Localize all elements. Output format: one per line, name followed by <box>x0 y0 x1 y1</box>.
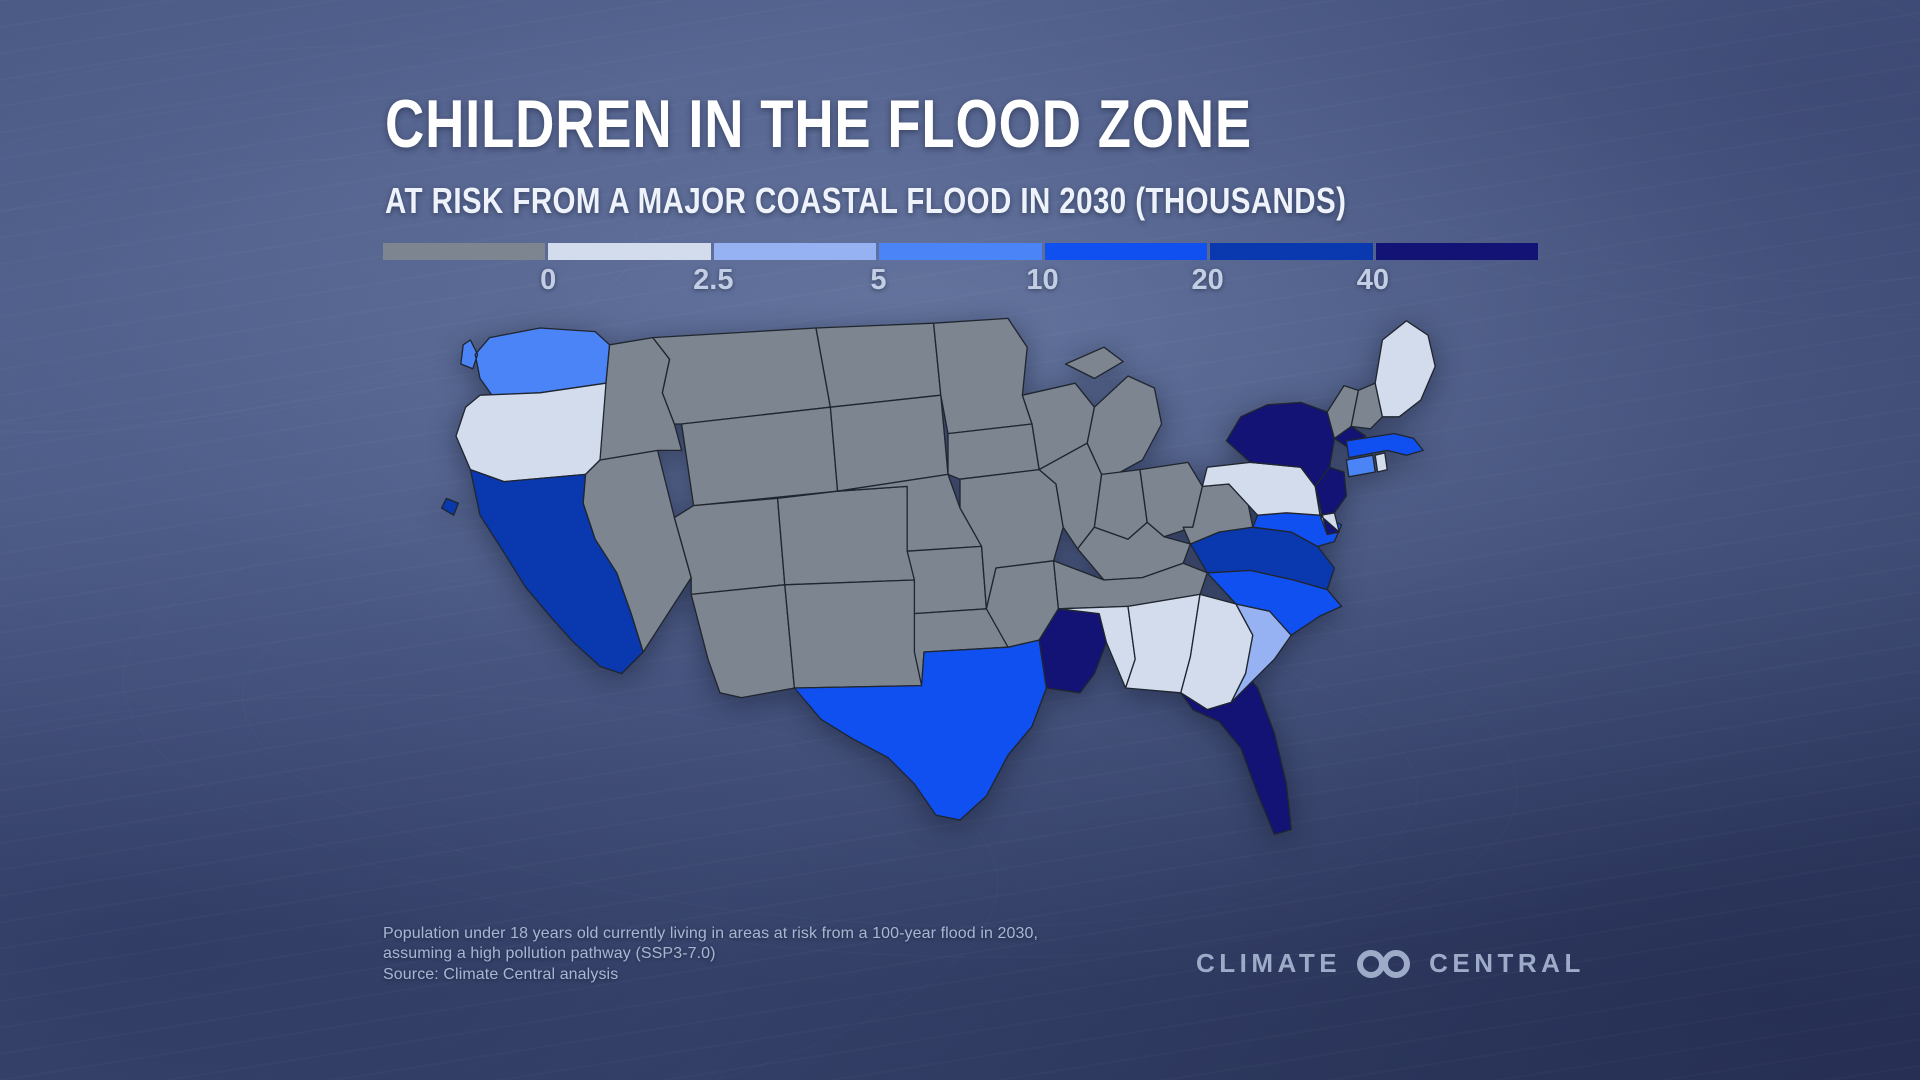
footnote-line-1: Population under 18 years old currently … <box>383 924 1038 944</box>
state-wy[interactable]: Wyoming <box>682 407 838 505</box>
logo-word-central: CENTRAL <box>1429 948 1585 979</box>
state-wa[interactable]: Washington <box>461 328 610 395</box>
state-me[interactable]: Maine <box>1375 321 1435 417</box>
legend: 02.55102040 <box>383 243 1538 297</box>
state-nd[interactable]: North Dakota <box>816 323 941 407</box>
legend-swatch-5-to-10 <box>879 243 1041 260</box>
state-ut[interactable]: Utah <box>674 498 784 594</box>
legend-color-bar <box>383 243 1538 260</box>
legend-tick-labels: 02.55102040 <box>383 260 1538 294</box>
page-subtitle: AT RISK FROM A MAJOR COASTAL FLOOD IN 20… <box>385 183 1346 219</box>
climate-central-logo: CLIMATE CENTRAL <box>1196 948 1585 979</box>
infographic-canvas: CHILDREN IN THE FLOOD ZONE AT RISK FROM … <box>0 0 1920 1080</box>
legend-swatch-20-to-40 <box>1210 243 1372 260</box>
state-ks[interactable]: Kansas <box>907 546 986 613</box>
logo-word-climate: CLIMATE <box>1196 948 1341 979</box>
footnote-line-2: assuming a high pollution pathway (SSP3-… <box>383 944 1038 964</box>
state-ri[interactable]: Rhode Island <box>1375 453 1387 472</box>
footnote-line-3: Source: Climate Central analysis <box>383 965 1038 985</box>
legend-swatch-no-data <box>383 243 545 260</box>
footnote: Population under 18 years old currently … <box>383 924 1038 985</box>
choropleth-map: WashingtonOregonCaliforniaNevadaIdahoMon… <box>360 292 1560 892</box>
legend-swatch-0-to-2-5 <box>548 243 710 260</box>
state-az[interactable]: Arizona <box>691 585 794 698</box>
state-or[interactable]: Oregon <box>456 383 610 481</box>
page-title: CHILDREN IN THE FLOOD ZONE <box>385 90 1252 158</box>
us-states-map: WashingtonOregonCaliforniaNevadaIdahoMon… <box>360 292 1560 892</box>
legend-swatch-2-5-to-5 <box>714 243 876 260</box>
interlocking-rings-icon <box>1357 950 1413 978</box>
state-nm[interactable]: New Mexico <box>785 580 922 688</box>
legend-swatch-10-to-20 <box>1045 243 1207 260</box>
legend-swatch-40-plus <box>1376 243 1538 260</box>
state-co[interactable]: Colorado <box>778 486 915 584</box>
state-mn[interactable]: Minnesota <box>934 318 1032 433</box>
state-ct[interactable]: Connecticut <box>1346 455 1375 477</box>
